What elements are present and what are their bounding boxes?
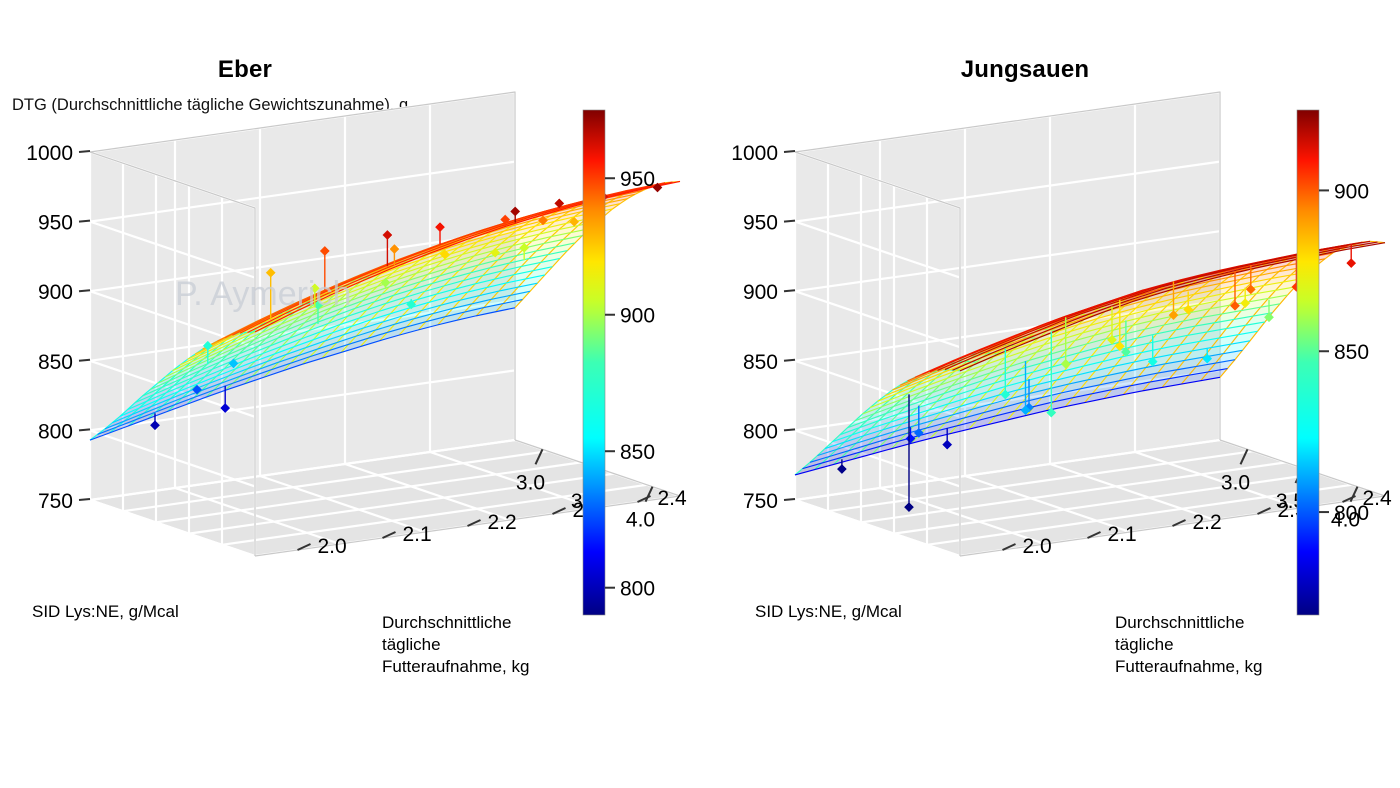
z-axis-tick (79, 151, 90, 152)
surface-plot-jungsauen: 33310009509008508007503.03.54.02.02.12.2… (700, 0, 1400, 788)
z-axis-tick-label: 900 (743, 281, 778, 304)
z-axis-tick (79, 360, 90, 361)
z-axis-tick (784, 290, 795, 291)
colorbar-tick-label: 900 (620, 305, 655, 328)
y-axis-tick-label: 2.1 (1108, 523, 1137, 546)
z-axis-tick (79, 429, 90, 430)
z-axis-tick-label: 850 (38, 351, 73, 374)
z-axis-tick (784, 499, 795, 500)
z-axis-tick (784, 360, 795, 361)
z-axis-tick-label: 950 (38, 212, 73, 235)
z-axis-tick (79, 290, 90, 291)
y-axis-tick-label: 2.4 (658, 487, 688, 510)
colorbar: 800850900 (1297, 110, 1369, 615)
x-axis-name: SID Lys:NE, g/Mcal (755, 602, 902, 621)
y-axis-tick-label: 2.2 (1193, 511, 1222, 534)
colorbar: 800850900950 (583, 110, 655, 615)
z-axis-tick (784, 151, 795, 152)
z-axis-tick (784, 221, 795, 222)
y-axis-name-line: Futteraufnahme, kg (382, 657, 529, 676)
colorbar-gradient (583, 110, 605, 615)
z-axis-tick-label: 1000 (731, 142, 778, 165)
colorbar-tick-label: 850 (1334, 341, 1369, 364)
z-axis-tick-label: 800 (743, 420, 778, 443)
x-axis-name: SID Lys:NE, g/Mcal (32, 602, 179, 621)
watermark-author: P. Aymerich (175, 275, 351, 313)
colorbar-gradient (1297, 110, 1319, 615)
y-axis-name-line: Durchschnittliche (382, 613, 511, 632)
z-axis-tick (784, 429, 795, 430)
y-axis-name-line: Durchschnittliche (1115, 613, 1244, 632)
z-axis-tick-label: 900 (38, 281, 73, 304)
y-axis-name-line: tägliche (382, 635, 441, 654)
x-axis-tick-label: 3.0 (516, 471, 545, 494)
colorbar-tick-label: 850 (620, 441, 655, 464)
z-axis-tick (79, 499, 90, 500)
colorbar-tick-label: 800 (1334, 502, 1369, 525)
z-axis-tick (79, 221, 90, 222)
z-axis-tick-label: 750 (743, 490, 778, 513)
x-axis-tick-label: 4.0 (626, 509, 655, 532)
y-axis-tick-label: 2.0 (318, 535, 347, 558)
y-axis-name-line: tägliche (1115, 635, 1174, 654)
y-axis-tick-label: 2.2 (488, 511, 517, 534)
z-axis-tick-label: 800 (38, 420, 73, 443)
surface-plot-eber: 10009509008508007503.03.54.02.02.12.22.3… (0, 0, 700, 788)
z-axis-tick-label: 1000 (26, 142, 73, 165)
figure-canvas: Eber DTG (Durchschnittliche tägliche Gew… (0, 0, 1400, 788)
panel-eber: Eber DTG (Durchschnittliche tägliche Gew… (0, 0, 700, 788)
z-axis-tick-label: 950 (743, 212, 778, 235)
y-axis-tick-label: 2.1 (403, 523, 432, 546)
x-axis-tick-label: 3.0 (1221, 471, 1250, 494)
observation-marker (1347, 259, 1356, 268)
y-axis-name-line: Futteraufnahme, kg (1115, 657, 1262, 676)
y-axis-tick-label: 2.0 (1023, 535, 1052, 558)
colorbar-tick-label: 800 (620, 578, 655, 601)
z-axis-tick-label: 850 (743, 351, 778, 374)
colorbar-tick-label: 950 (620, 168, 655, 191)
colorbar-tick-label: 900 (1334, 180, 1369, 203)
panel-jungsauen: Jungsauen DTG, g 33310009509008508007503… (700, 0, 1400, 788)
z-axis-tick-label: 750 (38, 490, 73, 513)
